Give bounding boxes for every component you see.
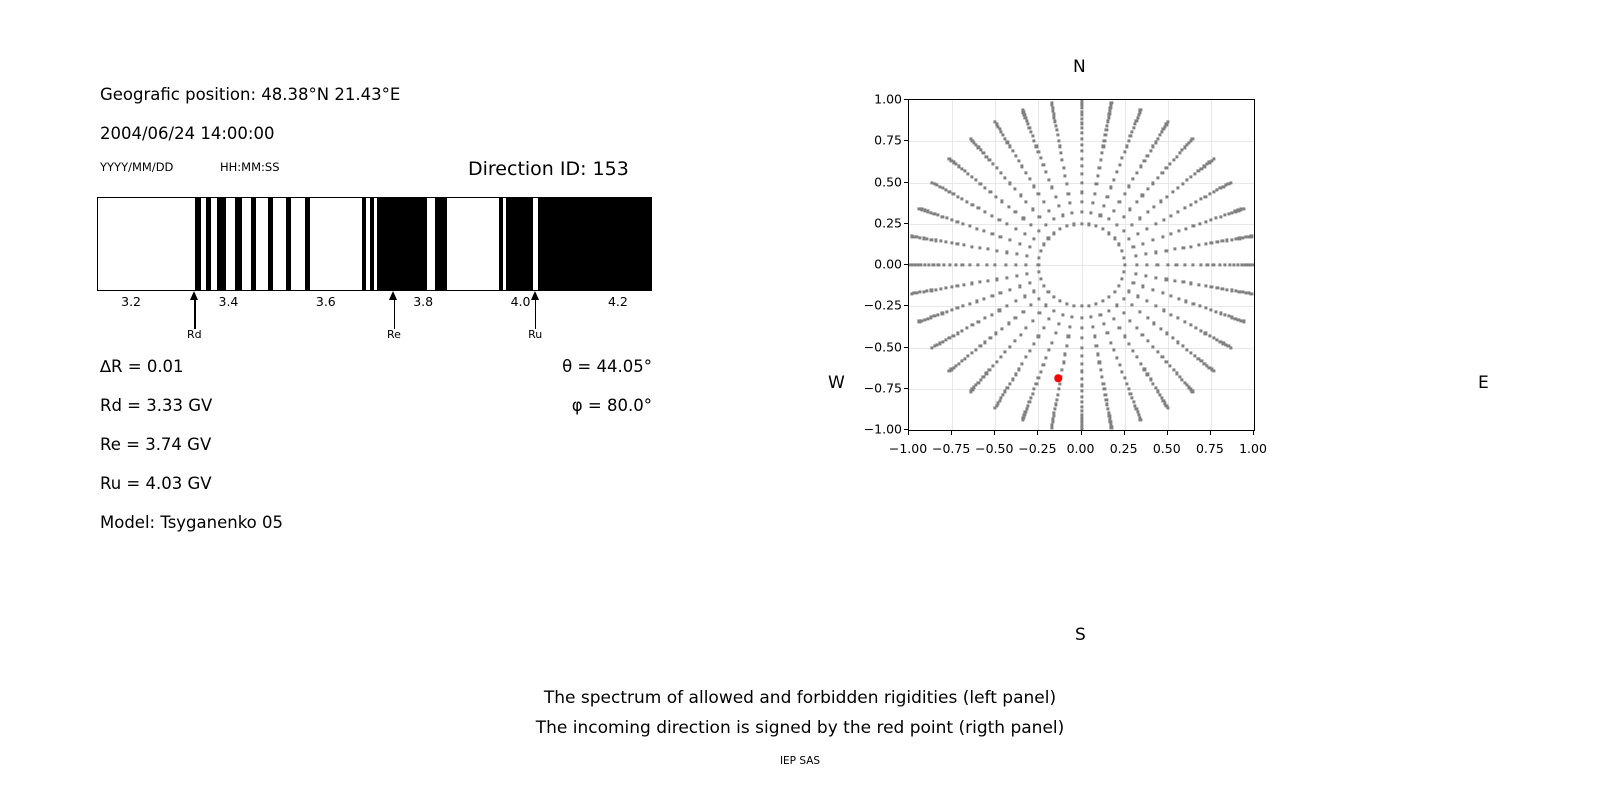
scatter-dot [1080, 428, 1083, 430]
scatter-dot [1056, 393, 1059, 396]
scatter-dot [1043, 243, 1046, 246]
scatter-dot [979, 149, 982, 152]
scatter-dot [1106, 403, 1109, 406]
scatter-dot [1000, 131, 1003, 134]
scatter-dot [999, 171, 1002, 174]
scatter-dot [1138, 217, 1141, 220]
scatter-dot [1047, 237, 1050, 240]
scatter-dot [1028, 281, 1031, 284]
scatter-dot [910, 263, 913, 266]
scatter-dot [1032, 237, 1035, 240]
scatter-dot [1008, 182, 1011, 185]
scatter-dot [1130, 223, 1133, 226]
scatter-dot [1183, 263, 1186, 266]
scatter-dot [978, 281, 981, 284]
caption-line-1: The spectrum of allowed and forbidden ri… [0, 688, 1600, 708]
scatter-dot [1021, 108, 1024, 111]
scatter-dot [1108, 109, 1111, 112]
scatter-dot [970, 282, 973, 285]
scatter-dot [1115, 223, 1118, 226]
scatter-dot [1080, 395, 1083, 398]
polar-ytick-mark [904, 223, 908, 224]
scatter-dot [1156, 176, 1159, 179]
polar-xtick-mark [908, 431, 909, 435]
scatter-dot [1141, 194, 1144, 197]
scatter-dot [1003, 351, 1006, 354]
scatter-dot [956, 242, 959, 245]
scatter-dot [1062, 361, 1065, 364]
scatter-dot [1113, 237, 1116, 240]
scatter-dot [1181, 182, 1184, 185]
scatter-dot [1127, 185, 1130, 188]
scatter-dot [1014, 154, 1017, 157]
scatter-dot [1033, 139, 1036, 142]
scatter-dot [1080, 191, 1083, 194]
scatter-dot [944, 286, 947, 289]
scatter-dot [1210, 241, 1213, 244]
marker-stem [194, 299, 195, 329]
scatter-dot [1069, 325, 1072, 328]
polar-xtick-label: 0.25 [1110, 441, 1138, 456]
scatter-dot [1105, 398, 1108, 401]
scatter-dot [1117, 284, 1120, 287]
scatter-dot [1155, 222, 1158, 225]
scatter-dot [1026, 273, 1029, 276]
scatter-dot [1106, 407, 1109, 410]
scatter-dot [1026, 123, 1029, 126]
scatter-dot [1186, 348, 1189, 351]
scatter-dot [1221, 287, 1224, 290]
scatter-dot [1080, 126, 1083, 129]
scatter-dot [1146, 188, 1149, 191]
scatter-dot [1006, 141, 1009, 144]
scatter-dot [919, 236, 922, 239]
scatter-dot [1108, 112, 1111, 115]
scatter-dot [1190, 351, 1193, 354]
forbidden-band [499, 198, 503, 290]
scatter-dot [1136, 356, 1139, 359]
scatter-dot [1038, 297, 1041, 300]
scatter-dot [1234, 289, 1237, 292]
compass-south-label: S [1075, 625, 1086, 645]
polar-ytick-mark [904, 305, 908, 306]
scatter-dot [1132, 400, 1135, 403]
scatter-dot [1028, 400, 1031, 403]
forbidden-band [217, 198, 226, 290]
scatter-dot [1080, 143, 1083, 146]
scatter-dot [1015, 253, 1018, 256]
polar-ytick-mark [904, 140, 908, 141]
scatter-dot [1171, 190, 1174, 193]
scatter-dot [1106, 332, 1109, 335]
scatter-dot [1080, 100, 1083, 102]
scatter-dot [952, 334, 955, 337]
scatter-dot [1127, 139, 1130, 142]
scatter-dot [1028, 178, 1031, 181]
scatter-dot [1103, 139, 1106, 142]
scatter-dot [939, 287, 942, 290]
scatter-dot [960, 360, 963, 363]
scatter-dot [1104, 133, 1107, 136]
scatter-dot [929, 316, 932, 319]
scatter-dot [1156, 137, 1159, 140]
scatter-dot [1234, 237, 1237, 240]
scatter-dot [1101, 151, 1104, 154]
scatter-dot [1112, 178, 1115, 181]
scatter-dot [994, 406, 997, 409]
scatter-dot [1089, 211, 1092, 214]
scatter-dot [1129, 208, 1132, 211]
scatter-dot [1223, 263, 1226, 266]
scatter-dot [1212, 157, 1215, 160]
scatter-dot [1197, 244, 1200, 247]
scatter-dot [1031, 319, 1034, 322]
scatter-dot [1184, 227, 1187, 230]
scatter-dot [934, 239, 937, 242]
polar-ytick-mark [904, 388, 908, 389]
scatter-dot [1080, 110, 1083, 113]
scatter-dot [945, 217, 948, 220]
scatter-dot [1166, 263, 1169, 266]
scatter-dot [948, 190, 951, 193]
polar-ytick-label: 0.50 [874, 174, 902, 189]
scatter-dot [1056, 133, 1059, 136]
scatter-dot [1181, 345, 1184, 348]
scatter-dot [944, 338, 947, 341]
scatter-dot [1031, 135, 1034, 138]
scatter-dot [1080, 405, 1083, 408]
scatter-dot [1204, 220, 1207, 223]
forbidden-band [377, 198, 427, 290]
scatter-dot [1242, 207, 1245, 210]
scatter-dot [926, 237, 929, 240]
scatter-dot [1080, 164, 1083, 167]
scatter-dot [1024, 171, 1027, 174]
scatter-dot [1080, 122, 1083, 125]
scatter-dot [931, 346, 934, 349]
scatter-dot [995, 332, 998, 335]
scatter-dot [963, 283, 966, 286]
scatter-dot [1080, 354, 1083, 357]
scatter-dot [1165, 360, 1168, 363]
scatter-dot [1070, 315, 1073, 318]
scatter-dot [966, 327, 969, 330]
scatter-dot [1039, 249, 1042, 252]
scatter-dot [1162, 309, 1165, 312]
scatter-dot [1176, 317, 1179, 320]
scatter-dot [944, 240, 947, 243]
scatter-dot [913, 263, 916, 266]
scatter-dot [1038, 215, 1041, 218]
scatter-dot [1011, 149, 1014, 152]
scatter-dot [970, 175, 973, 178]
scatter-dot [948, 336, 951, 339]
scatter-dot [1095, 225, 1098, 228]
scatter-dot [1191, 137, 1194, 140]
marker-label: Rd [187, 328, 202, 341]
scatter-dot [1065, 302, 1068, 305]
scatter-dot [948, 263, 951, 266]
scatter-dot [913, 292, 916, 295]
scatter-dot [989, 190, 992, 193]
scatter-dot [1080, 316, 1083, 319]
scatter-dot [995, 249, 998, 252]
polar-xtick-mark [1167, 431, 1168, 435]
scatter-dot [1177, 297, 1180, 300]
scatter-dot [1025, 119, 1028, 122]
scatter-dot [991, 232, 994, 235]
forbidden-band [251, 198, 256, 290]
scatter-dot [1242, 320, 1245, 323]
plot-inner-area [909, 100, 1254, 430]
scatter-dot [1161, 171, 1164, 174]
scatter-dot [1108, 218, 1111, 221]
scatter-dot [1182, 281, 1185, 284]
spectrum-xtick-label: 4.0 [511, 294, 531, 309]
scatter-dot [1191, 390, 1194, 393]
scatter-dot [1080, 362, 1083, 365]
scatter-dot [1110, 101, 1113, 104]
scatter-dot [934, 288, 937, 291]
scatter-dot [984, 210, 987, 213]
scatter-dot [1052, 112, 1055, 115]
scatter-dot [1013, 188, 1016, 191]
scatter-dot [1250, 292, 1253, 295]
polar-xtick-mark [1253, 431, 1254, 435]
scatter-dot [1226, 239, 1229, 242]
datetime-label: 2004/06/24 14:00:00 [100, 124, 274, 143]
scatter-dot [1208, 334, 1211, 337]
scatter-dot [1122, 297, 1125, 300]
scatter-dot [1080, 131, 1083, 134]
scatter-dot [1173, 248, 1176, 251]
scatter-dot [1042, 163, 1045, 166]
spectrum-bar [97, 197, 652, 291]
scatter-dot [1058, 382, 1061, 385]
scatter-dot [1024, 327, 1027, 330]
scatter-dot [1166, 121, 1169, 124]
scatter-dot [927, 263, 930, 266]
scatter-dot [1192, 302, 1195, 305]
scatter-dot [1024, 356, 1027, 359]
scatter-dot [1014, 210, 1017, 213]
scatter-dot [1096, 353, 1099, 356]
scatter-dot [985, 155, 988, 158]
scatter-dot [1102, 322, 1105, 325]
scatter-dot [1118, 363, 1121, 366]
scatter-dot [1061, 159, 1064, 162]
scatter-dot [1013, 339, 1016, 342]
time-format-hint: HH:MM:SS [220, 160, 280, 174]
spectrum-xtick-label: 3.8 [413, 294, 433, 309]
scatter-dot [1189, 324, 1192, 327]
scatter-dot [1175, 263, 1178, 266]
polar-x-axis: −1.00−0.75−0.50−0.250.000.250.500.751.00 [908, 437, 1253, 461]
scatter-dot [1080, 107, 1083, 110]
marker-stem [394, 299, 395, 329]
scatter-dot [1144, 274, 1147, 277]
scatter-dot [994, 121, 997, 124]
forbidden-band [206, 198, 211, 290]
scatter-dot [1104, 393, 1107, 396]
scatter-dot [1176, 341, 1179, 344]
scatter-dot [1129, 319, 1132, 322]
polar-xtick-label: −0.75 [932, 441, 970, 456]
scatter-dot [1007, 205, 1010, 208]
scatter-dot [1109, 186, 1112, 189]
scatter-dot [1146, 210, 1149, 213]
scatter-dot [1137, 295, 1140, 298]
scatter-dot [1151, 382, 1154, 385]
scatter-dot [1136, 116, 1139, 119]
scatter-dot [1008, 345, 1011, 348]
caption-line-2: The incoming direction is signed by the … [0, 718, 1600, 738]
scatter-dot [941, 340, 944, 343]
scatter-dot [1128, 290, 1131, 293]
scatter-dot [1009, 288, 1012, 291]
scatter-dot [1112, 349, 1115, 352]
scatter-dot [1108, 232, 1111, 235]
scatter-dot [1155, 276, 1158, 279]
scatter-dot [1210, 309, 1213, 312]
scatter-dot [1011, 378, 1014, 381]
scatter-dot [926, 289, 929, 292]
scatter-dot [1005, 276, 1008, 279]
forbidden-band [235, 198, 242, 290]
scatter-dot [918, 320, 921, 323]
scatter-dot [1018, 242, 1021, 245]
scatter-dot [1030, 304, 1033, 307]
scatter-dot [1144, 253, 1147, 256]
compass-west-label: W [828, 373, 845, 393]
scatter-dot [969, 263, 972, 266]
scatter-dot [1052, 295, 1055, 298]
scatter-dot [956, 284, 959, 287]
scatter-dot [1146, 154, 1149, 157]
scatter-dot [1044, 223, 1047, 226]
scatter-dot [1149, 149, 1152, 152]
scatter-dot [1061, 368, 1064, 371]
spectrum-xtick-label: 3.4 [218, 294, 238, 309]
scatter-dot [983, 297, 986, 300]
scatter-dot [974, 179, 977, 182]
scatter-dot [1102, 145, 1105, 148]
scatter-dot [1037, 377, 1040, 380]
scatter-dot [1136, 171, 1139, 174]
scatter-dot [1035, 382, 1038, 385]
scatter-dot [1134, 254, 1137, 257]
scatter-dot [1120, 249, 1123, 252]
scatter-dot [919, 263, 922, 266]
scatter-dot [910, 235, 913, 238]
scatter-dot [995, 360, 998, 363]
scatter-dot [1113, 209, 1116, 212]
scatter-dot [1014, 373, 1017, 376]
scatter-dot [1172, 158, 1175, 161]
scatter-dot [1052, 232, 1055, 235]
scatter-dot [1080, 377, 1083, 380]
scatter-dot [1039, 370, 1042, 373]
scatter-dot [1050, 101, 1053, 104]
scatter-dot [1080, 157, 1083, 160]
scatter-dot [991, 294, 994, 297]
scatter-dot [1080, 118, 1083, 121]
scatter-dot [1008, 145, 1011, 148]
scatter-dot [937, 214, 940, 217]
polar-xtick-label: −0.50 [975, 441, 1013, 456]
compass-east-label: E [1478, 373, 1489, 393]
scatter-dot [919, 291, 922, 294]
scatter-dot [1019, 194, 1022, 197]
scatter-dot [1002, 134, 1005, 137]
scatter-dot [1219, 215, 1222, 218]
scatter-dot [971, 203, 974, 206]
scatter-dot [1214, 217, 1217, 220]
scatter-dot [1221, 240, 1224, 243]
scatter-dot [1229, 346, 1232, 349]
scatter-dot [1230, 289, 1233, 292]
scatter-dot [1093, 335, 1096, 338]
scatter-dot [1047, 178, 1050, 181]
scatter-dot [950, 218, 953, 221]
scatter-dot [963, 170, 966, 173]
scatter-dot [1050, 186, 1053, 189]
compass-north-label: N [1073, 57, 1086, 77]
scatter-dot [1123, 150, 1126, 153]
scatter-dot [1051, 109, 1054, 112]
scatter-dot [1106, 120, 1109, 123]
scatter-dot [1131, 396, 1134, 399]
scatter-dot [1037, 263, 1040, 266]
scatter-dot [960, 167, 963, 170]
scatter-dot [1131, 130, 1134, 133]
scatter-dot [1018, 285, 1021, 288]
scatter-dot [1080, 181, 1083, 184]
scatter-dot [1080, 400, 1083, 403]
scatter-dot [1146, 300, 1149, 303]
scatter-dot [1006, 386, 1009, 389]
scatter-dot [956, 220, 959, 223]
scatter-dot [1193, 172, 1196, 175]
scatter-dot [1137, 232, 1140, 235]
forbidden-band [286, 198, 291, 290]
scatter-dot [1099, 313, 1102, 316]
scatter-dot [1032, 185, 1035, 188]
param-phi: φ = 80.0° [572, 396, 652, 415]
scatter-dot [969, 137, 972, 140]
scatter-dot [1022, 310, 1025, 313]
polar-xtick-mark [1124, 431, 1125, 435]
geographic-position-label: Geografic position: 48.38°N 21.43°E [100, 85, 400, 104]
scatter-dot [1017, 159, 1020, 162]
scatter-dot [1038, 229, 1041, 232]
scatter-dot [1118, 201, 1121, 204]
scatter-dot [1115, 356, 1118, 359]
scatter-dot [1198, 305, 1201, 308]
scatter-dot [1080, 173, 1083, 176]
scatter-dot [1037, 335, 1040, 338]
scatter-dot [1161, 356, 1164, 359]
param-ru: Ru = 4.03 GV [100, 474, 212, 493]
scatter-dot [1204, 195, 1207, 198]
scatter-dot [1177, 230, 1180, 233]
scatter-dot [1115, 304, 1118, 307]
scatter-dot [1159, 327, 1162, 330]
scatter-dot [1061, 214, 1064, 217]
scatter-dot [1080, 211, 1083, 214]
scatter-dot [1237, 263, 1240, 266]
polar-ytick-mark [904, 264, 908, 265]
